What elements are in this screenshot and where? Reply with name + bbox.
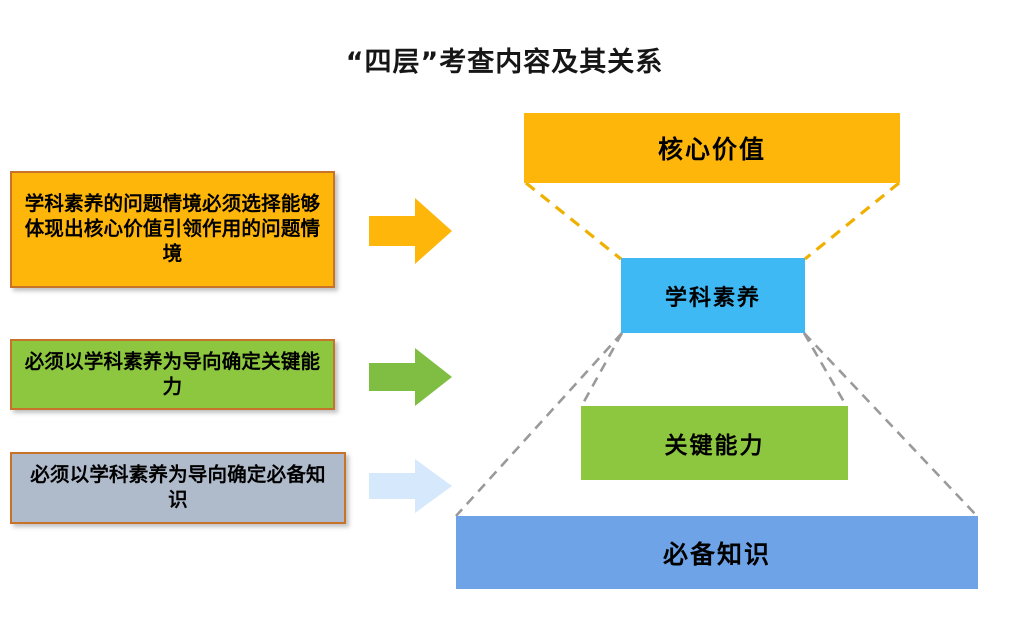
note-key-ability: 必须以学科素养为导向确定关键能力 (10, 339, 335, 410)
pyramid-level-core-value: 核心价值 (524, 113, 900, 183)
arrow-lightblue-icon (369, 456, 453, 516)
pyramid-level-essential-knowledge-label: 必备知识 (663, 535, 771, 571)
connector-literacy-to-ability-right (804, 333, 847, 407)
arrow-green-icon (369, 346, 453, 408)
pyramid-level-subject-literacy: 学科素养 (621, 258, 805, 333)
slide-canvas: “四层”考查内容及其关系 学科素养的问题情境必须选择能够体现出核心价值引领作用的… (0, 0, 1009, 621)
connector-core-to-literacy-right (805, 183, 899, 259)
pyramid-level-key-ability: 关键能力 (581, 406, 848, 480)
pyramid-level-subject-literacy-label: 学科素养 (665, 280, 761, 312)
note-essential-knowledge-text: 必须以学科素养为导向确定必备知识 (22, 463, 334, 513)
pyramid-level-key-ability-label: 关键能力 (665, 426, 765, 460)
connector-core-to-literacy-left (526, 183, 621, 259)
pyramid-level-core-value-label: 核心价值 (658, 130, 766, 166)
connector-literacy-to-ability-left (581, 333, 622, 407)
arrow-orange-icon (369, 196, 453, 266)
note-key-ability-text: 必须以学科素养为导向确定关键能力 (22, 350, 323, 400)
pyramid-level-essential-knowledge: 必备知识 (456, 516, 978, 589)
note-core-value-context-text: 学科素养的问题情境必须选择能够体现出核心价值引领作用的问题情境 (22, 192, 323, 267)
note-essential-knowledge: 必须以学科素养为导向确定必备知识 (10, 452, 346, 524)
note-core-value-context: 学科素养的问题情境必须选择能够体现出核心价值引领作用的问题情境 (10, 171, 335, 288)
page-title: “四层”考查内容及其关系 (0, 40, 1009, 79)
